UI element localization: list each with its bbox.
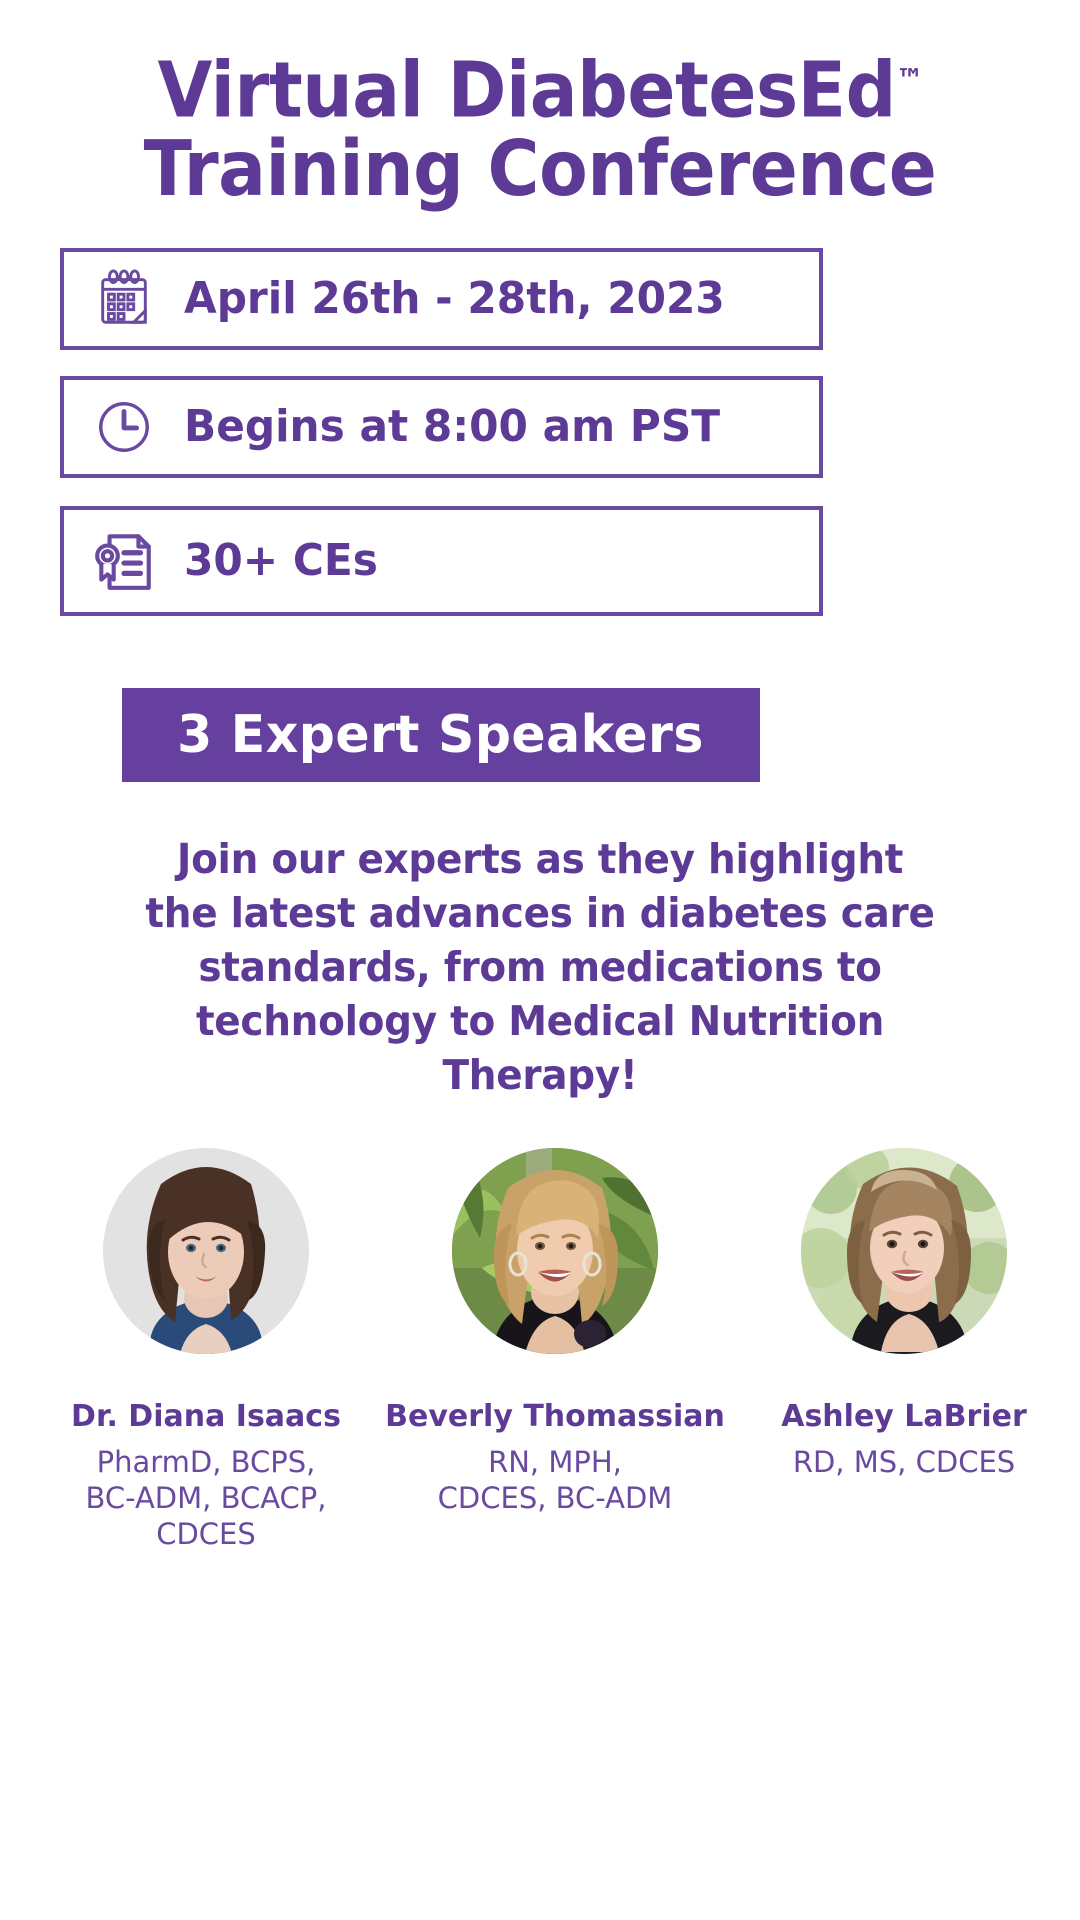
info-box-date: April 26th - 28th, 2023	[60, 248, 823, 350]
portrait-beverly-thomassian	[452, 1148, 658, 1354]
info-box-ces-label: 30+ CEs	[184, 537, 378, 585]
speaker-card: Beverly Thomassian RN, MPH, CDCES, BC-AD…	[385, 1148, 725, 1552]
portrait-ashley-labrier	[801, 1148, 1007, 1354]
portrait-diana-isaacs	[103, 1148, 309, 1354]
body-copy-line: the latest advances in diabetes care	[103, 886, 977, 940]
body-copy-line: Join our experts as they highlight	[103, 832, 977, 886]
clock-icon	[64, 396, 184, 458]
title-line-1: Virtual DiabetesEd™	[43, 42, 1037, 131]
trademark-symbol: ™	[896, 63, 923, 98]
speaker-name: Ashley LaBrier	[781, 1400, 1027, 1434]
body-copy-line: Therapy!	[103, 1048, 977, 1102]
speakers-row: Dr. Diana Isaacs PharmD, BCPS, BC-ADM, B…	[0, 1148, 1080, 1552]
speaker-name: Beverly Thomassian	[385, 1400, 725, 1434]
page-title: Virtual DiabetesEd™ Training Conference	[0, 42, 1080, 209]
body-copy-line: technology to Medical Nutrition	[103, 994, 977, 1048]
info-box-ces: 30+ CEs	[60, 506, 823, 616]
info-box-time-label: Begins at 8:00 am PST	[184, 403, 720, 451]
speaker-credentials: PharmD, BCPS, BC-ADM, BCACP, CDCES	[81, 1444, 331, 1552]
expert-speakers-banner: 3 Expert Speakers	[122, 688, 760, 782]
speaker-name: Dr. Diana Isaacs	[71, 1400, 341, 1434]
speaker-credentials: RN, MPH, CDCES, BC-ADM	[430, 1444, 680, 1516]
info-box-time: Begins at 8:00 am PST	[60, 376, 823, 478]
info-box-date-label: April 26th - 28th, 2023	[184, 275, 725, 323]
body-copy-line: standards, from medications to	[103, 940, 977, 994]
expert-speakers-banner-label: 3 Expert Speakers	[178, 707, 705, 763]
speaker-credentials: RD, MS, CDCES	[793, 1444, 1015, 1480]
title-line-1-text: Virtual DiabetesEd	[157, 47, 895, 136]
certificate-icon	[64, 528, 184, 594]
title-line-2: Training Conference	[43, 131, 1037, 209]
flyer-page: Virtual DiabetesEd™ Training Conference	[0, 0, 1080, 1920]
body-copy: Join our experts as they highlight the l…	[80, 832, 1000, 1102]
speaker-card: Dr. Diana Isaacs PharmD, BCPS, BC-ADM, B…	[36, 1148, 376, 1552]
calendar-icon	[64, 268, 184, 330]
speaker-card: Ashley LaBrier RD, MS, CDCES	[734, 1148, 1074, 1552]
